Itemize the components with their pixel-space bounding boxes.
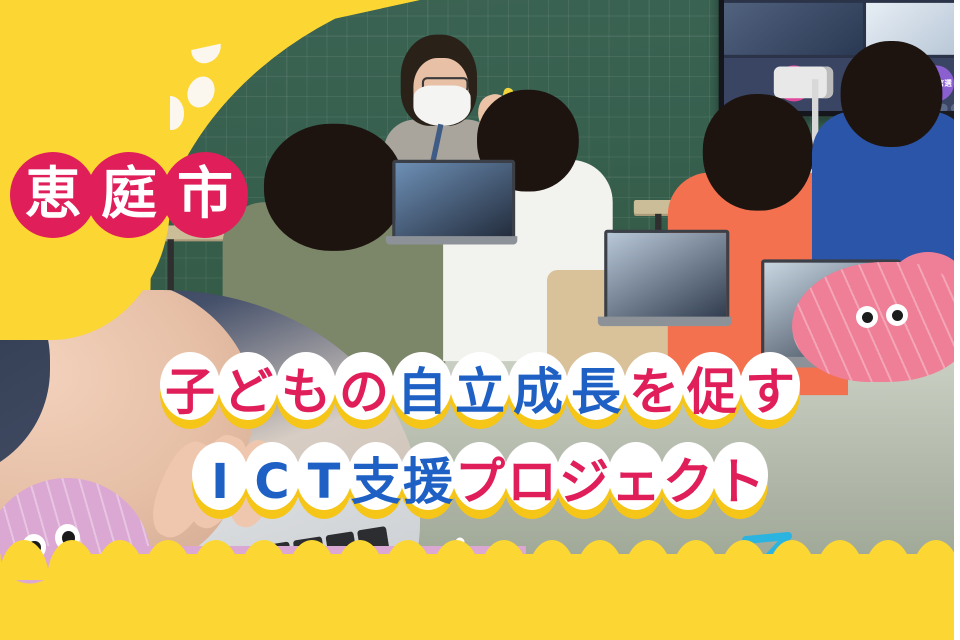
headline-char-glyph: も (281, 367, 331, 417)
headline-char-glyph: 立 (455, 367, 505, 417)
headline-char: プ (451, 442, 509, 522)
headline-char-glyph: の (339, 367, 389, 417)
badge-char-1: 恵 (10, 152, 96, 238)
headline-char-glyph: ロ (507, 457, 557, 507)
headline-char: 子 (158, 352, 222, 432)
headline-char: ト (711, 442, 769, 522)
headline-char: を (622, 352, 686, 432)
headline-char: ジ (555, 442, 613, 522)
headline-char-glyph: I (211, 458, 229, 506)
headline-char: 成 (506, 352, 570, 432)
headline-char: 立 (448, 352, 512, 432)
headline-char-glyph: す (745, 367, 795, 417)
headline-char-glyph: 促 (687, 367, 737, 417)
headline-char: の (332, 352, 396, 432)
thumbnail-canvas: 師範 明大 言選 桜一 (0, 0, 960, 640)
headline-char-glyph: ク (663, 457, 713, 507)
badge-char-2: 庭 (86, 152, 172, 238)
headline-char: ク (659, 442, 717, 522)
headline-char: す (738, 352, 802, 432)
pink-cloud-eye-right (886, 304, 908, 326)
headline: 子どもの自立成長を促す ICT支援プロジェクト (0, 352, 960, 522)
headline-char: T (295, 442, 353, 522)
webcam-head (774, 66, 833, 98)
headline-line-1: 子どもの自立成長を促す (0, 352, 960, 432)
headline-char-glyph: 支 (351, 457, 401, 507)
headline-char-glyph: 子 (165, 367, 215, 417)
headline-line-2: ICT支援プロジェクト (0, 442, 960, 522)
headline-char-glyph: 自 (397, 367, 447, 417)
bottom-yellow-strip (0, 554, 960, 640)
headline-char: I (191, 442, 249, 522)
video-tile (724, 3, 863, 56)
headline-char: 長 (564, 352, 628, 432)
headline-char-glyph: ェ (611, 457, 661, 507)
headline-char-glyph: 援 (403, 457, 453, 507)
headline-char-glyph: T (308, 458, 341, 506)
badge-char-3: 市 (162, 152, 248, 238)
headline-char: ど (216, 352, 280, 432)
headline-char: 支 (347, 442, 405, 522)
headline-char: 自 (390, 352, 454, 432)
headline-char-glyph: を (629, 367, 679, 417)
headline-char: 促 (680, 352, 744, 432)
right-edge (954, 0, 960, 640)
headline-char: も (274, 352, 338, 432)
headline-char-glyph: ど (223, 367, 273, 417)
headline-char: C (243, 442, 301, 522)
headline-char-glyph: ト (715, 457, 765, 507)
headline-char: ェ (607, 442, 665, 522)
city-badge: 恵 庭 市 (10, 152, 238, 238)
headline-char: 援 (399, 442, 457, 522)
headline-char: ロ (503, 442, 561, 522)
headline-char-glyph: プ (455, 457, 505, 507)
headline-char-glyph: ジ (559, 457, 609, 507)
headline-char-glyph: C (254, 458, 289, 506)
headline-char-glyph: 成 (513, 367, 563, 417)
headline-char-glyph: 長 (571, 367, 621, 417)
pink-cloud-eye-left (856, 306, 878, 328)
